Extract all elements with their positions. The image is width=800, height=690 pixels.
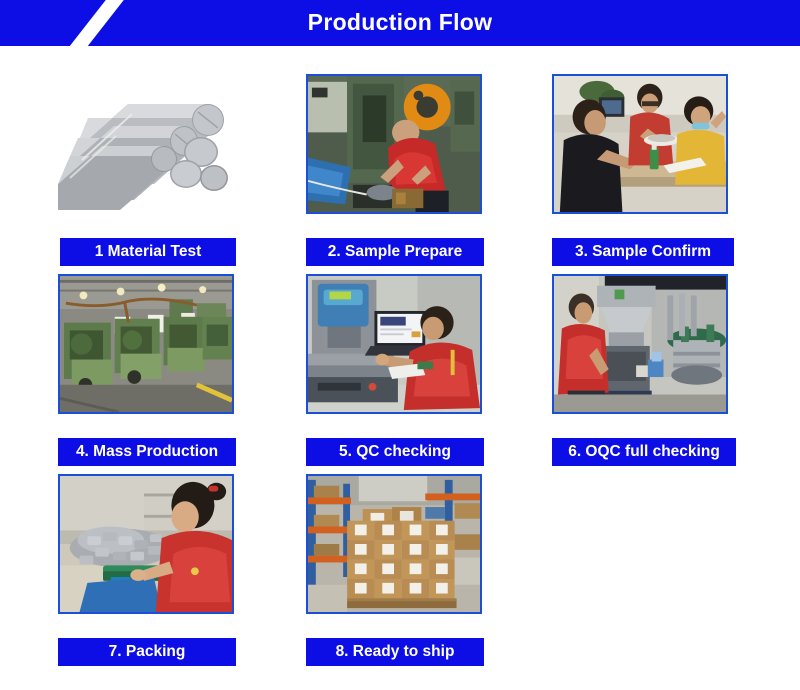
photo-material-test [58,74,234,214]
photo-oqc-full-checking [552,274,728,414]
qc-checking-illustration [308,276,480,412]
step-label-2: 2. Sample Prepare [306,238,484,266]
photo-qc-checking [306,274,482,414]
steel-bars-illustration [58,74,234,214]
header-banner: Production Flow [0,0,800,46]
photo-sample-confirm [552,74,728,214]
step-label-5: 5. QC checking [306,438,484,466]
page-title: Production Flow [0,0,800,46]
mass-production-illustration [60,276,232,412]
oqc-checking-illustration [554,276,726,412]
step-label-7: 7. Packing [58,638,236,666]
photo-ready-to-ship [306,474,482,614]
sample-confirm-illustration [554,76,726,212]
flow-step-4[interactable]: 4. Mass Production [58,274,238,414]
flow-step-7[interactable]: 7. Packing [58,474,238,614]
step-label-6: 6. OQC full checking [552,438,736,466]
step-label-4: 4. Mass Production [58,438,236,466]
flow-step-2[interactable]: 2. Sample Prepare [306,74,486,214]
step-label-8: 8. Ready to ship [306,638,484,666]
flow-step-1[interactable]: 1 Material Test [58,74,238,214]
photo-mass-production [58,274,234,414]
punch-press-illustration [308,76,480,212]
flow-step-3[interactable]: 3. Sample Confirm [552,74,732,214]
flow-step-6[interactable]: 6. OQC full checking [552,274,732,414]
flow-step-5[interactable]: 5. QC checking [306,274,486,414]
step-label-3: 3. Sample Confirm [552,238,734,266]
step-label-1: 1 Material Test [60,238,236,266]
flow-step-8[interactable]: 8. Ready to ship [306,474,486,614]
production-flow-grid: 1 Material Test [0,46,800,690]
photo-sample-prepare [306,74,482,214]
ready-to-ship-illustration [308,476,480,612]
photo-packing [58,474,234,614]
packing-illustration [60,476,232,612]
